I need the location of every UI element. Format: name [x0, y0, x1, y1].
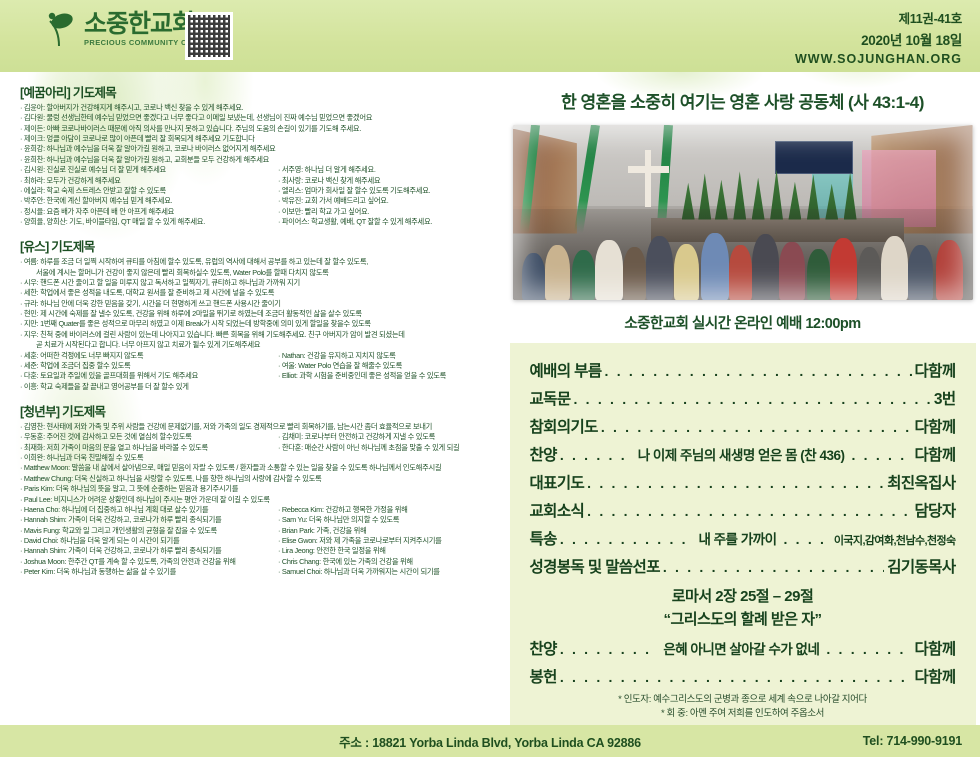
prayer-item: · Mavis Fung: 학교와 일 그리고 개인생활의 균형을 잘 잡을 수…: [20, 526, 270, 536]
prayer-section-yekkumari: [예꿈아리] 기도제목 · 김윤아: 할아버지가 건강해지게 해주시고, 코로나…: [20, 82, 500, 227]
prayer-item: · Sam Yu: 더욱 하나님만 의지할 수 있도록: [278, 515, 500, 525]
prayer-item: · 시우: 핸드폰 시간 줄이고 할 일을 미루지 않고 독서하고 일찍자기, …: [20, 278, 500, 288]
order-label: 성경봉독 및 말씀선포: [530, 555, 660, 577]
order-label: 봉헌: [530, 665, 557, 687]
prayer-item: · 윤희강: 하나님과 예수님을 더욱 잘 알아가길 원하고, 코로나 바이러스…: [20, 144, 500, 154]
prayer-item: · 한다훈: 매순간 사람이 아닌 하나님께 초점을 맞출 수 있게 되길: [278, 443, 500, 453]
prayer-item: · Hannah Shim: 가족이 더욱 건강하고, 코로나가 하루 빨리 종…: [20, 546, 270, 556]
prayer-item: · Elliot: 과학 시험을 준비중인데 좋은 성적을 얻을 수 있도록: [278, 371, 500, 381]
prayer-item: · 다훈: 토요일과 주일에 있을 골프대회를 위해서 기도 해주세요: [20, 371, 270, 381]
prayer-item: · Lira Jeong: 안전한 한국 일정을 위해: [278, 546, 500, 556]
church-address: 주소 : 18821 Yorba Linda Blvd, Yorba Linda…: [0, 732, 980, 751]
church-phone[interactable]: Tel: 714-990-9191: [863, 734, 962, 748]
prayer-item-continued: 곧 치료가 시작된다고 합니다. 너무 아프지 않고 치료가 될수 있게 기도해…: [20, 340, 500, 350]
order-value: 김기동목사: [887, 555, 955, 577]
leaf-icon: [46, 10, 76, 48]
order-value: 다함께: [915, 637, 956, 659]
bulletin-date: 2020년 10월 18일: [795, 29, 962, 49]
prayer-item: · 파이어스: 학교생활, 예배, QT 잘할 수 있게 해주세요.: [278, 217, 500, 227]
order-label: 교독문: [530, 387, 571, 409]
prayer-item: · 세한: 학업에서 좋은 성적을 내도록, 대학교 원서를 잘 준비하고 제 …: [20, 288, 500, 298]
order-value: 다함께: [915, 415, 956, 437]
section-title: [청년부] 기도제목: [20, 401, 500, 420]
prayer-item: · Matthew Chung: 더욱 신실하고 하나님을 사랑할 수 있도록,…: [20, 474, 500, 484]
page-body: [예꿈아리] 기도제목 · 김윤아: 할아버지가 건강해지게 해주시고, 코로나…: [0, 72, 980, 732]
order-label: 참회의기도: [530, 415, 598, 437]
prayer-item: · 세준: 학업에 조금더 집중 할수 있도록: [20, 361, 270, 371]
prayer-item: · 이흥: 학교 숙제들을 잘 끝내고 영어공부를 더 잘 할수 있게: [20, 382, 270, 392]
prayer-column-left: · 세훈: 어떠한 걱정에도 너무 빠지지 않도록 · 세준: 학업에 조금더 …: [20, 351, 270, 392]
order-dot-leader: . . . . . . . . . . . . .: [560, 531, 692, 547]
prayer-item: · Hannah Shim: 가족이 더욱 건강하고, 코로나가 하루 빨리 종…: [20, 515, 270, 525]
prayer-item: · 우동훈: 주어진 것에 감사하고 모든 것에 열심히 할수있도록: [20, 432, 270, 442]
prayer-column-left: · Haena Cho: 하나님에 더 집중하고 하나님 계획 대로 살수 있기…: [20, 505, 270, 578]
prayer-section-young-adults: [청년부] 기도제목 · 김영찬: 현사태에 저와 가족 및 주위 사람들 건강…: [20, 401, 500, 577]
section-title: [예꿈아리] 기도제목: [20, 82, 500, 101]
order-dot-leader: . . . . . . . . . . . . . . . . . . . . …: [560, 669, 912, 685]
prayer-item: · 현민: 제 시간에 숙제를 잘 낼수 있도록, 건강을 위해 하루에 2마일…: [20, 309, 500, 319]
responsive-note-congregation: * 회 중: 아멘 주여 저희를 인도하여 주옵소서: [530, 707, 956, 721]
order-value: 이국지,감여화,천남수,천정숙: [834, 532, 956, 548]
prayer-item: · Chris Chang: 한국에 있는 가족의 건강을 위해: [278, 557, 500, 567]
prayer-full-list: · 여름: 하루를 조금 더 일찍 시작하여 큐티를 아침에 할수 있도록, 유…: [20, 257, 500, 350]
order-hymn-title: 은혜 아니면 살아갈 수가 없네: [659, 638, 823, 658]
prayer-item: · 양희율, 양희산: 기도, 바이블타임, QT 매일 할 수 있게 해주세요…: [20, 217, 270, 227]
order-dot-leader: . . . . . . . . . . . . . . . . . . . . …: [601, 419, 912, 435]
prayer-item: · 박주안: 한국에 계신 할아버지 예수님 믿게 해주세요.: [20, 196, 270, 206]
prayer-item: · 윤희찬: 하나님과 예수님을 더욱 잘 알아가길 원하고, 교회분들 모두 …: [20, 155, 500, 165]
order-label: 예배의 부름: [530, 359, 602, 381]
order-dot-leader: . . . . .: [784, 531, 831, 547]
prayer-item: · Peter Kim: 더욱 하나님과 동행하는 삶을 살 수 있기를: [20, 567, 270, 577]
order-label: 찬양: [530, 443, 557, 465]
prayer-item: · Rebecca Kim: 건강하고 행복한 가정을 위해: [278, 505, 500, 515]
prayer-item: · Nathan: 건강을 유지하고 지치지 않도록: [278, 351, 500, 361]
order-label: 특송: [530, 527, 557, 549]
prayer-column-left: · 우동훈: 주어진 것에 감사하고 모든 것에 열심히 할수있도록 · 최재화…: [20, 432, 270, 463]
order-row: 교회소식 . . . . . . . . . . . . . . . . . .…: [530, 499, 956, 521]
prayer-item: · David Choi: 하나님을 더욱 알게 되는 이 시간이 되기를: [20, 536, 270, 546]
prayer-item: · Matthew Moon: 말씀을 내 삶에서 살아냄으로, 매일 믿음이 …: [20, 463, 500, 473]
volume-number: 제11권-41호: [795, 8, 962, 27]
prayer-item: · 김시원: 진실로 진실로 예수님 더 잘 믿게 해주세요: [20, 165, 270, 175]
order-row: 예배의 부름 . . . . . . . . . . . . . . . . .…: [530, 359, 956, 381]
order-of-worship-panel: 예배의 부름 . . . . . . . . . . . . . . . . .…: [510, 343, 976, 732]
order-row: 대표기도 . . . . . . . . . . . . . . . . . .…: [530, 471, 956, 493]
prayer-item: · 지만: 1번째 Quater를 좋은 성적으로 마무리 하였고 이제 Bre…: [20, 319, 500, 329]
prayer-item: · Paris Kim: 더욱 하나님의 뜻을 알고, 그 뜻에 순종하는 믿음…: [20, 484, 500, 494]
page-header: 소중한교회 PRECIOUS COMMUNITY CHURCH 제11권-41호…: [0, 0, 980, 72]
prayer-item: · Brian Park: 가족, 건강을 위해: [278, 526, 500, 536]
order-dot-leader: . . . . . . . . . . . . . . . . . . . . …: [573, 391, 930, 407]
church-website-url[interactable]: WWW.SOJUNGHAN.ORG: [795, 52, 962, 66]
prayer-item: · Haena Cho: 하나님에 더 집중하고 하나님 계획 대로 살수 있기…: [20, 505, 270, 515]
order-row: 특송 . . . . . . . . . . . . . 내 주를 가까이 . …: [530, 527, 956, 549]
prayer-requests-column: [예꿈아리] 기도제목 · 김윤아: 할아버지가 건강해지게 해주시고, 코로나…: [20, 82, 500, 586]
worship-photo: [513, 125, 973, 300]
prayer-full-list: · 김윤아: 할아버지가 건강해지게 해주시고, 코로나 백신 찾을 수 있게 …: [20, 103, 500, 165]
order-label: 찬양: [530, 637, 557, 659]
prayer-item-continued: 서울에 계시는 할머니가 건강이 좋지 않은데 빨리 회복하실수 있도록, Wa…: [20, 268, 500, 278]
prayer-item: · Paul Lee: 비지니스가 어려운 상황인데 하나님이 주시는 평안 가…: [20, 495, 500, 505]
prayer-two-column-block: · 김시원: 진실로 진실로 예수님 더 잘 믿게 해주세요 · 최하라: 모두…: [20, 165, 500, 227]
order-label: 교회소식: [530, 499, 585, 521]
worship-column: 한 영혼을 소중히 여기는 영혼 사랑 공동체 (사 43:1-4): [505, 72, 980, 732]
prayer-item: · 최하라: 모두가 건강하게 해주세요: [20, 176, 270, 186]
order-value: 담당자: [915, 499, 956, 521]
prayer-item: · Joshua Moon: 한주간 QT를 계속 할 수 있도록, 가족의 안…: [20, 557, 270, 567]
page-footer: 주소 : 18821 Yorba Linda Blvd, Yorba Linda…: [0, 725, 980, 757]
prayer-two-column-block: · Haena Cho: 하나님에 더 집중하고 하나님 계획 대로 살수 있기…: [20, 505, 500, 578]
prayer-column-right: · 김채미: 코로나부터 안전하고 건강하게 지낼 수 있도록 · 한다훈: 매…: [270, 432, 500, 463]
order-value: 다함께: [915, 665, 956, 687]
prayer-item: · 이희완: 하나님과 더욱 친밀해질 수 있도록: [20, 453, 270, 463]
prayer-column-left: · 김시원: 진실로 진실로 예수님 더 잘 믿게 해주세요 · 최하라: 모두…: [20, 165, 270, 227]
order-row: 교독문 . . . . . . . . . . . . . . . . . . …: [530, 387, 956, 409]
section-title: [유스] 기도제목: [20, 236, 500, 255]
order-row: 성경봉독 및 말씀선포 . . . . . . . . . . . . . . …: [530, 555, 956, 577]
order-dot-leader: . . . . . . . . . . . . . . . . . . . . …: [587, 503, 911, 519]
order-special-song-title: 내 주를 가까이: [694, 528, 780, 548]
qr-code-pattern: [188, 15, 230, 57]
order-dot-leader: . . . . . . . . . . . . . . . . . . . . …: [663, 559, 884, 575]
order-label: 대표기도: [530, 471, 585, 493]
order-dot-leader: . . . . . . . . . . . . . . . . . . . . …: [605, 363, 912, 379]
prayer-item: · 김영찬: 현사태에 저와 가족 및 주위 사람들 건강에 문제없기를, 저와…: [20, 422, 500, 432]
prayer-item: · 김채미: 코로나부터 안전하고 건강하게 지낼 수 있도록: [278, 432, 500, 442]
responsive-note-leader: * 인도자: 예수그리스도의 군병과 종으로 세계 속으로 나아갈 지어다: [530, 693, 956, 707]
order-hymn-title: 나 이제 주님의 새생명 얻은 몸 (찬 436): [634, 444, 849, 464]
prayer-item: · 세훈: 어떠한 걱정에도 너무 빠지지 않도록: [20, 351, 270, 361]
sermon-title: “그리스도의 할례 받은 자”: [530, 608, 956, 629]
prayer-item: · 이보만: 빨리 학교 가고 싶어요.: [278, 207, 500, 217]
prayer-two-column-block: · 우동훈: 주어진 것에 감사하고 모든 것에 열심히 할수있도록 · 최재화…: [20, 432, 500, 463]
order-value: 다함께: [915, 359, 956, 381]
scripture-reference: 로마서 2장 25절 – 29절: [530, 585, 956, 606]
prayer-item: · 여름: 하루를 조금 더 일찍 시작하여 큐티를 아침에 할수 있도록, 유…: [20, 257, 500, 267]
order-dot-leader: . . . . . . . . .: [560, 641, 657, 657]
prayer-item: · 정시율: 요즘 배가 자주 아픈데 배 안 아프게 해주세요: [20, 207, 270, 217]
order-row: 찬양 . . . . . . . . . 은혜 아니면 살아갈 수가 없네 . …: [530, 637, 956, 659]
order-row: 참회의기도 . . . . . . . . . . . . . . . . . …: [530, 415, 956, 437]
online-service-time: 소중한교회 실시간 온라인 예배 12:00pm: [505, 312, 980, 333]
prayer-full-list-secondary: · Matthew Moon: 말씀을 내 삶에서 살아냄으로, 매일 믿음이 …: [20, 463, 500, 504]
prayer-item: · 엘리스: 엄마가 회사일 잘 할수 있도록 기도해주세요.: [278, 186, 500, 196]
order-row: 봉헌 . . . . . . . . . . . . . . . . . . .…: [530, 665, 956, 687]
photo-congregation: [513, 209, 973, 300]
prayer-item: · 에실라: 학교 숙제 스트레스 안받고 잘할 수 있도록: [20, 186, 270, 196]
prayer-item: · 김윤아: 할아버지가 건강해지게 해주시고, 코로나 백신 찾을 수 있게 …: [20, 103, 500, 113]
order-dot-leader: . . . . . . . .: [826, 641, 911, 657]
prayer-item: · 제이크: 엉클 아담이 코로나로 많이 아픈데 빨리 잘 회복되게 해주세요…: [20, 134, 500, 144]
order-dot-leader: . . . . . . . . . . . . . . . . . . . . …: [587, 475, 884, 491]
prayer-item: · 최사랑: 코로나 백신 찾게 해주세요: [278, 176, 500, 186]
prayer-column-right: · Nathan: 건강을 유지하고 지치지 않도록 · 여울: Water P…: [270, 351, 500, 392]
order-value: 다함께: [915, 443, 956, 465]
order-dot-leader: . . . . . . .: [560, 447, 631, 463]
order-value: 최진옥집사: [887, 471, 955, 493]
prayer-item: · 박유진: 교회 가서 예배드리고 싶어요.: [278, 196, 500, 206]
prayer-column-right: · 서주영: 하나님 더 알게 해주세요. · 최사랑: 코로나 백신 찾게 해…: [270, 165, 500, 227]
photo-cross-icon: [628, 150, 669, 208]
order-dot-leader: . . . . . .: [851, 447, 911, 463]
order-value: 3번: [934, 387, 956, 409]
qr-code-icon[interactable]: [185, 12, 233, 60]
prayer-item: · 규라: 하나님 안에 더욱 강한 믿음을 갖기, 시간을 더 현명하게 쓰고…: [20, 299, 500, 309]
prayer-item: · 지우: 친척 중에 바이러스에 걸린 사람이 있는데 나아지고 있습니다. …: [20, 330, 500, 340]
prayer-item: · Samuel Choi: 하나님과 더욱 가까워지는 시간이 되기를: [278, 567, 500, 577]
prayer-item: · 제이든: 아빠 코로나바이러스 때문에 아직 의사를 만나지 못하고 있습니…: [20, 124, 500, 134]
prayer-item: · 여울: Water Polo 연습을 잘 해줄수 있도록: [278, 361, 500, 371]
bulletin-meta: 제11권-41호 2020년 10월 18일 WWW.SOJUNGHAN.ORG: [795, 8, 962, 66]
prayer-column-right: · Rebecca Kim: 건강하고 행복한 가정을 위해 · Sam Yu:…: [270, 505, 500, 578]
prayer-item: · Elise Gwon: 저와 제 가족을 코로나로부터 지켜주시기를: [278, 536, 500, 546]
order-row: 찬양 . . . . . . . 나 이제 주님의 새생명 얻은 몸 (찬 43…: [530, 443, 956, 465]
vision-verse: 한 영혼을 소중히 여기는 영혼 사랑 공동체 (사 43:1-4): [505, 72, 980, 113]
prayer-section-youth: [유스] 기도제목 · 여름: 하루를 조금 더 일찍 시작하여 큐티를 아침에…: [20, 236, 500, 392]
prayer-item: · 김다원: 물렁 선생님한테 예수님 믿었으면 좋겠다고 너무 좋다고 이메일…: [20, 113, 500, 123]
prayer-item: · 최재화: 저희 가족이 마음의 문을 열고 하나님을 바라볼 수 있도록: [20, 443, 270, 453]
prayer-two-column-block: · 세훈: 어떠한 걱정에도 너무 빠지지 않도록 · 세준: 학업에 조금더 …: [20, 351, 500, 392]
prayer-item: · 서주영: 하나님 더 알게 해주세요.: [278, 165, 500, 175]
